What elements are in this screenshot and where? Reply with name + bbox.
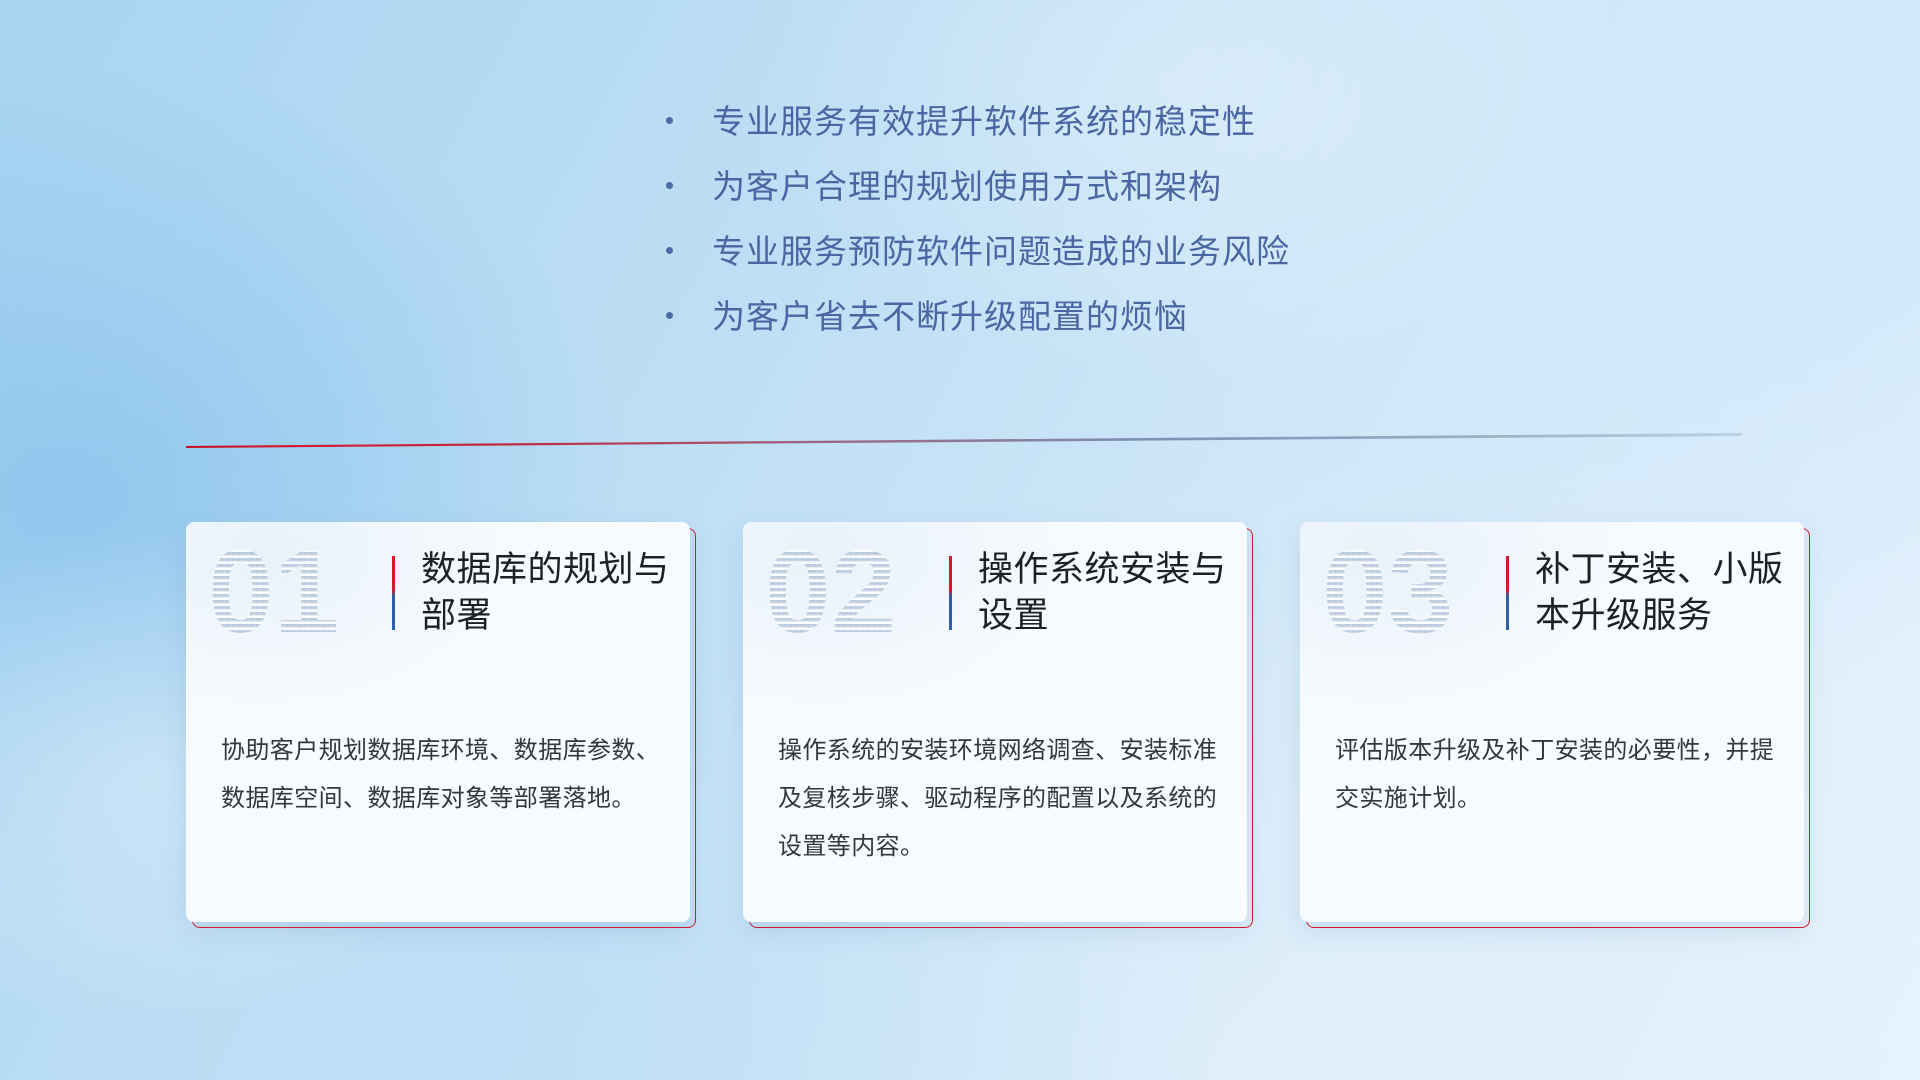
benefits-bullet-list: 专业服务有效提升软件系统的稳定性 为客户合理的规划使用方式和架构 专业服务预防软… <box>666 105 1290 365</box>
card-title: 数据库的规划与部署 <box>421 547 690 639</box>
bullet-dot-icon <box>666 247 673 254</box>
bullet-text: 为客户合理的规划使用方式和架构 <box>712 170 1222 203</box>
bullet-text: 专业服务预防软件问题造成的业务风险 <box>712 235 1290 268</box>
service-card[interactable]: 02 02 操作系统安装与设置 操作系统的安装环境网络调查、安装标准及复核步骤、… <box>743 522 1247 922</box>
card-description: 操作系统的安装环境网络调查、安装标准及复核步骤、驱动程序的配置以及系统的设置等内… <box>778 727 1219 871</box>
list-item: 专业服务有效提升软件系统的稳定性 <box>666 105 1290 138</box>
card-surface: 02 02 操作系统安装与设置 操作系统的安装环境网络调查、安装标准及复核步骤、… <box>743 522 1247 922</box>
card-header: 01 01 数据库的规划与部署 <box>186 540 690 646</box>
card-number-watermark: 02 02 <box>765 540 943 646</box>
card-divider-bar <box>392 556 395 630</box>
card-description: 协助客户规划数据库环境、数据库参数、数据库空间、数据库对象等部署落地。 <box>221 727 662 823</box>
card-title: 补丁安装、小版本升级服务 <box>1535 547 1804 639</box>
service-card-row: 01 01 数据库的规划与部署 协助客户规划数据库环境、数据库参数、数据库空间、… <box>186 522 1806 922</box>
card-description: 评估版本升级及补丁安装的必要性，并提交实施计划。 <box>1335 727 1776 823</box>
bullet-dot-icon <box>666 312 673 319</box>
card-divider-bar <box>1506 556 1509 630</box>
card-header: 03 03 补丁安装、小版本升级服务 <box>1300 540 1804 646</box>
slide-canvas: 专业服务有效提升软件系统的稳定性 为客户合理的规划使用方式和架构 专业服务预防软… <box>0 0 1920 1080</box>
card-number-watermark: 01 01 <box>208 540 386 646</box>
list-item: 为客户省去不断升级配置的烦恼 <box>666 300 1290 333</box>
bullet-text: 为客户省去不断升级配置的烦恼 <box>712 300 1188 333</box>
bullet-dot-icon <box>666 182 673 189</box>
bullet-text: 专业服务有效提升软件系统的稳定性 <box>712 105 1256 138</box>
service-card[interactable]: 01 01 数据库的规划与部署 协助客户规划数据库环境、数据库参数、数据库空间、… <box>186 522 690 922</box>
card-number-text: 02 <box>765 540 896 646</box>
list-item: 专业服务预防软件问题造成的业务风险 <box>666 235 1290 268</box>
card-surface: 03 03 补丁安装、小版本升级服务 评估版本升级及补丁安装的必要性，并提交实施… <box>1300 522 1804 922</box>
card-number-watermark: 03 03 <box>1322 540 1500 646</box>
card-divider-bar <box>949 556 952 630</box>
card-header: 02 02 操作系统安装与设置 <box>743 540 1247 646</box>
bullet-dot-icon <box>666 117 673 124</box>
service-card[interactable]: 03 03 补丁安装、小版本升级服务 评估版本升级及补丁安装的必要性，并提交实施… <box>1300 522 1804 922</box>
tapered-divider-line <box>186 432 1742 448</box>
card-number-text: 01 <box>208 540 339 646</box>
card-number-text: 03 <box>1322 540 1453 646</box>
list-item: 为客户合理的规划使用方式和架构 <box>666 170 1290 203</box>
card-title: 操作系统安装与设置 <box>978 547 1247 639</box>
card-surface: 01 01 数据库的规划与部署 协助客户规划数据库环境、数据库参数、数据库空间、… <box>186 522 690 922</box>
